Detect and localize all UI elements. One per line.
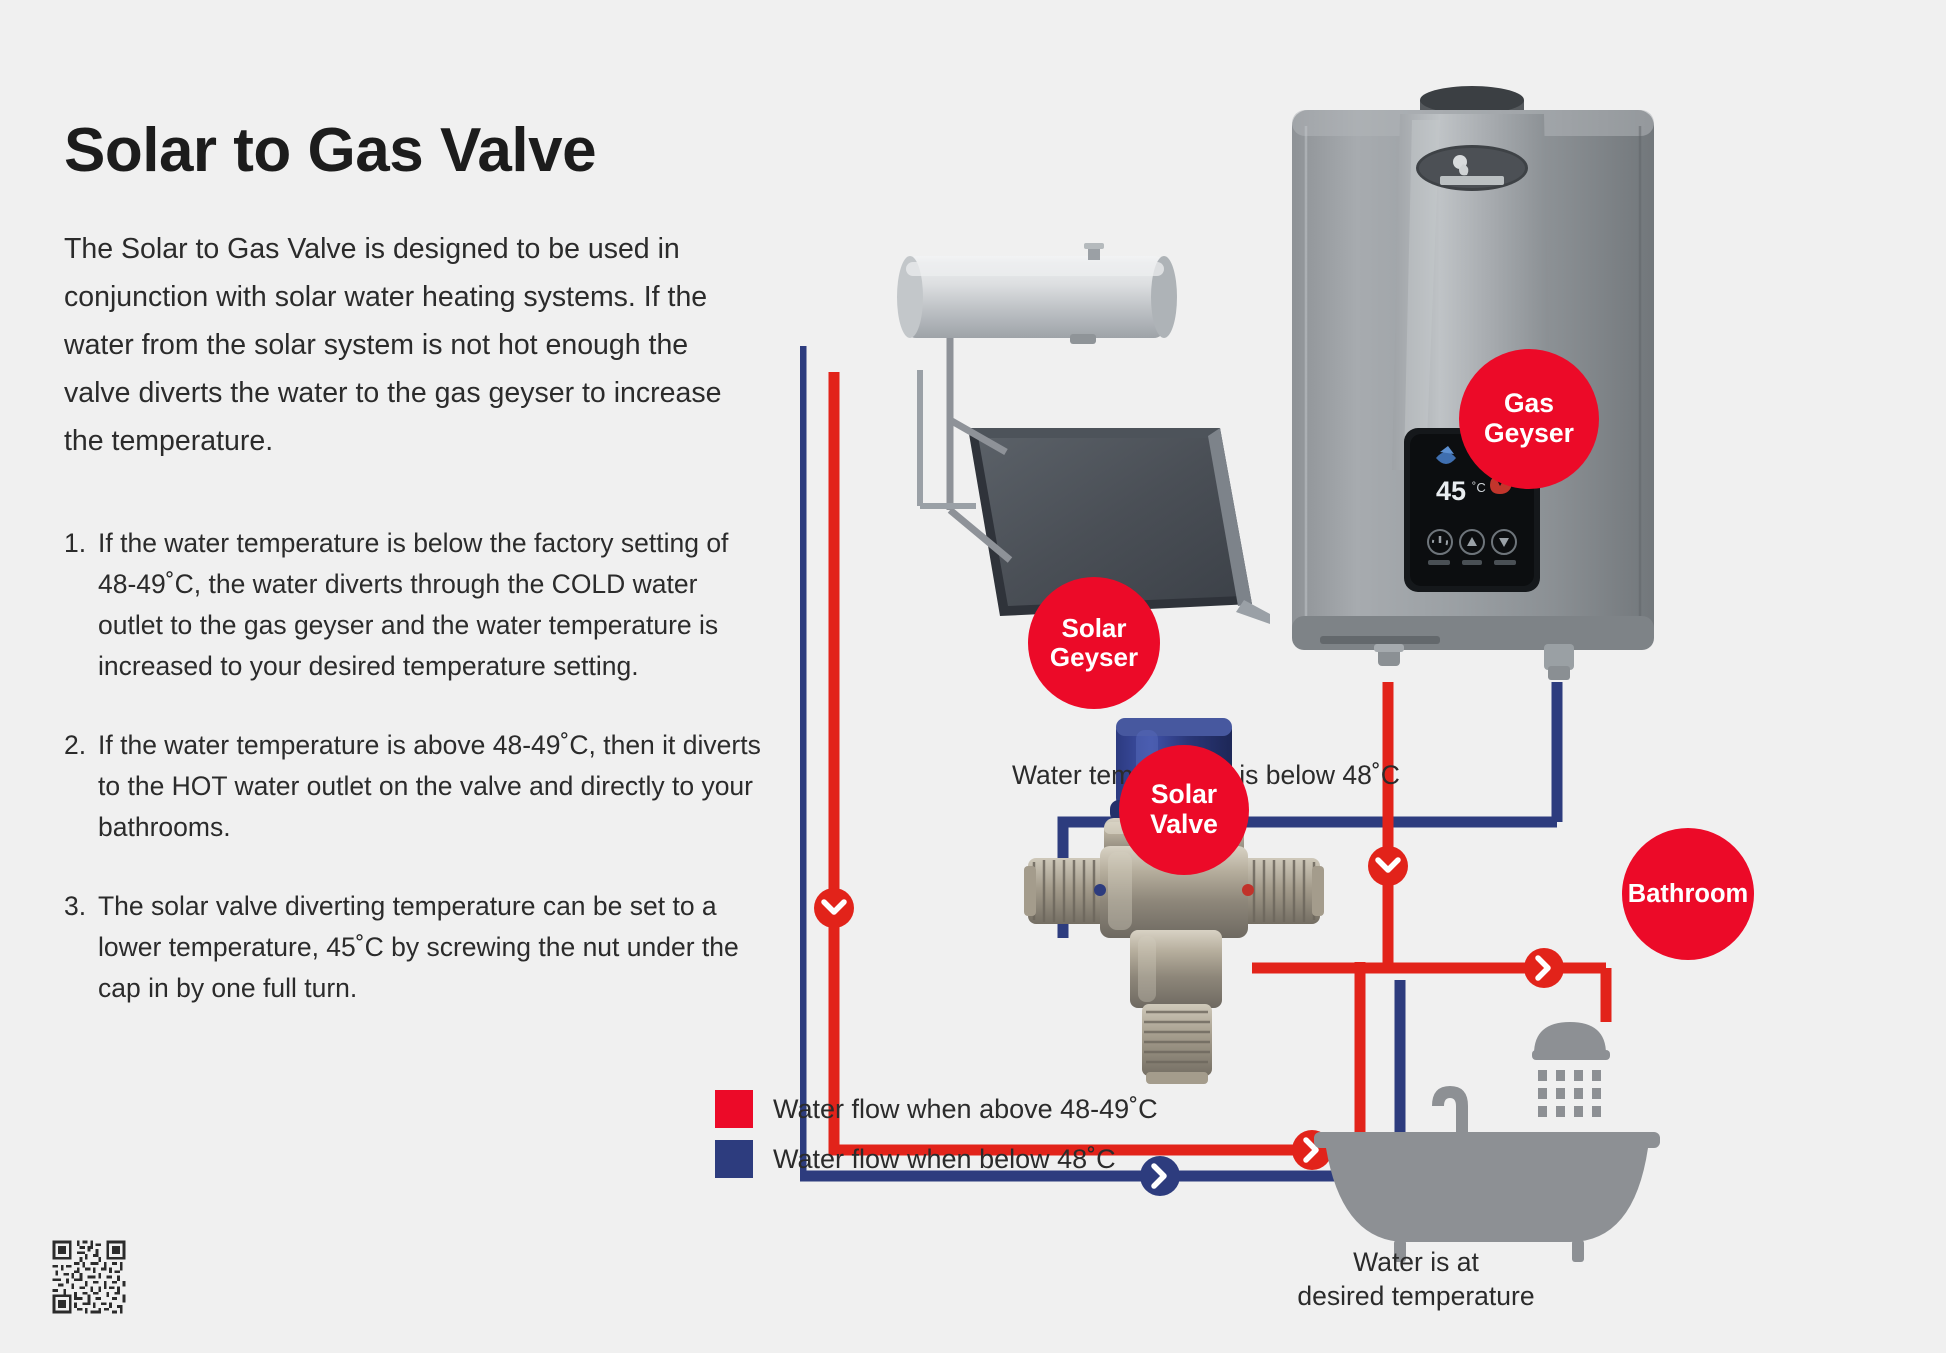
flow-arrow-red-geyser-down	[1368, 846, 1408, 886]
legend-label-cold: Water flow when below 48˚C	[773, 1144, 1116, 1175]
legend-swatch-red	[715, 1090, 753, 1128]
badge-solar-geyser-label: Solar Geyser	[1050, 614, 1138, 672]
legend-item-cold: Water flow when below 48˚C	[715, 1140, 1158, 1178]
step-number: 2.	[64, 725, 98, 848]
step-text: If the water temperature is above 48-49˚…	[98, 725, 764, 848]
flow-arrow-red-to-bathroom	[1524, 948, 1564, 988]
geyser-temp-value: 45	[1436, 476, 1466, 506]
badge-gas-geyser-label: Gas Geyser	[1484, 389, 1574, 448]
badge-solar-valve: Solar Valve	[1119, 745, 1249, 875]
badge-bathroom: Bathroom	[1622, 828, 1754, 960]
step-text: If the water temperature is below the fa…	[98, 523, 764, 687]
badge-solar-geyser: Solar Geyser	[1028, 577, 1160, 709]
page-title: Solar to Gas Valve	[64, 118, 764, 183]
badge-gas-geyser: Gas Geyser	[1459, 349, 1599, 489]
intro-paragraph: The Solar to Gas Valve is designed to be…	[64, 225, 724, 465]
step-text: The solar valve diverting temperature ca…	[98, 886, 764, 1009]
steps-list: 1. If the water temperature is below the…	[64, 523, 764, 1009]
text-column: Solar to Gas Valve The Solar to Gas Valv…	[64, 118, 764, 1047]
qr-code-icon	[50, 1238, 128, 1316]
pipe-red-to-valve	[1320, 962, 1360, 1150]
geyser-temp-unit: ˚C	[1472, 480, 1486, 495]
bathroom-image	[1314, 1022, 1660, 1262]
legend-swatch-blue	[715, 1140, 753, 1178]
system-diagram: 45 ˚C	[800, 0, 1946, 1353]
badge-bathroom-label: Bathroom	[1628, 880, 1748, 909]
step-number: 1.	[64, 523, 98, 687]
caption-desired-line2: desired temperature	[1297, 1281, 1534, 1311]
infographic-page: Solar to Gas Valve The Solar to Gas Valv…	[0, 0, 1946, 1353]
legend-label-hot: Water flow when above 48-49˚C	[773, 1094, 1158, 1125]
qr-code[interactable]	[50, 1238, 128, 1316]
solar-geyser-image	[897, 243, 1270, 624]
caption-desired-temperature: Water is at desired temperature	[1266, 1245, 1566, 1313]
list-item: 1. If the water temperature is below the…	[64, 523, 764, 687]
legend-item-hot: Water flow when above 48-49˚C	[715, 1090, 1158, 1128]
list-item: 2. If the water temperature is above 48-…	[64, 725, 764, 848]
flow-arrow-red-left-down	[814, 888, 854, 928]
badge-solar-valve-label: Solar Valve	[1150, 780, 1218, 839]
step-number: 3.	[64, 886, 98, 1009]
list-item: 3. The solar valve diverting temperature…	[64, 886, 764, 1009]
flow-legend: Water flow when above 48-49˚C Water flow…	[715, 1090, 1158, 1190]
caption-desired-line1: Water is at	[1353, 1247, 1479, 1277]
